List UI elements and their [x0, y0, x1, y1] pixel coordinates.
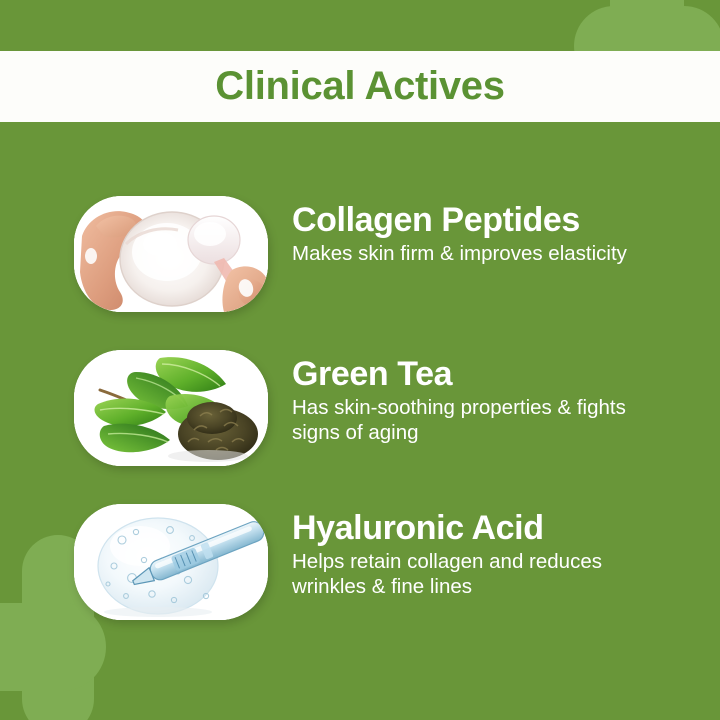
title-band: Clinical Actives: [0, 51, 720, 122]
actives-list: Collagen Peptides Makes skin firm & impr…: [0, 196, 720, 658]
list-item-text: Collagen Peptides Makes skin firm & impr…: [268, 196, 720, 267]
list-item: Hyaluronic Acid Helps retain collagen an…: [0, 504, 720, 620]
thumbnail-green-tea: [74, 350, 268, 466]
list-item-description: Has skin-soothing properties & fights si…: [292, 396, 654, 445]
thumbnail-hyaluronic-acid: [74, 504, 268, 620]
hand-holding-bowl-of-collagen-powder-with-scoop-icon: [74, 196, 268, 312]
thumbnail-collagen-peptides: [74, 196, 268, 312]
list-item-title: Green Tea: [292, 356, 720, 392]
list-item-title: Hyaluronic Acid: [292, 510, 720, 546]
green-tea-leaves-with-dried-tea-icon: [74, 350, 268, 466]
list-item-description: Helps retain collagen and reduces wrinkl…: [292, 550, 654, 599]
list-item: Collagen Peptides Makes skin firm & impr…: [0, 196, 720, 312]
list-item: Green Tea Has skin-soothing properties &…: [0, 350, 720, 466]
list-item-text: Hyaluronic Acid Helps retain collagen an…: [268, 504, 720, 599]
list-item-description: Makes skin firm & improves elasticity: [292, 242, 654, 267]
list-item-title: Collagen Peptides: [292, 202, 720, 238]
page-title: Clinical Actives: [215, 64, 504, 109]
clear-gel-blob-with-glass-dropper-icon: [74, 504, 268, 620]
list-item-text: Green Tea Has skin-soothing properties &…: [268, 350, 720, 445]
clinical-actives-poster: Clinical Actives: [0, 0, 720, 720]
